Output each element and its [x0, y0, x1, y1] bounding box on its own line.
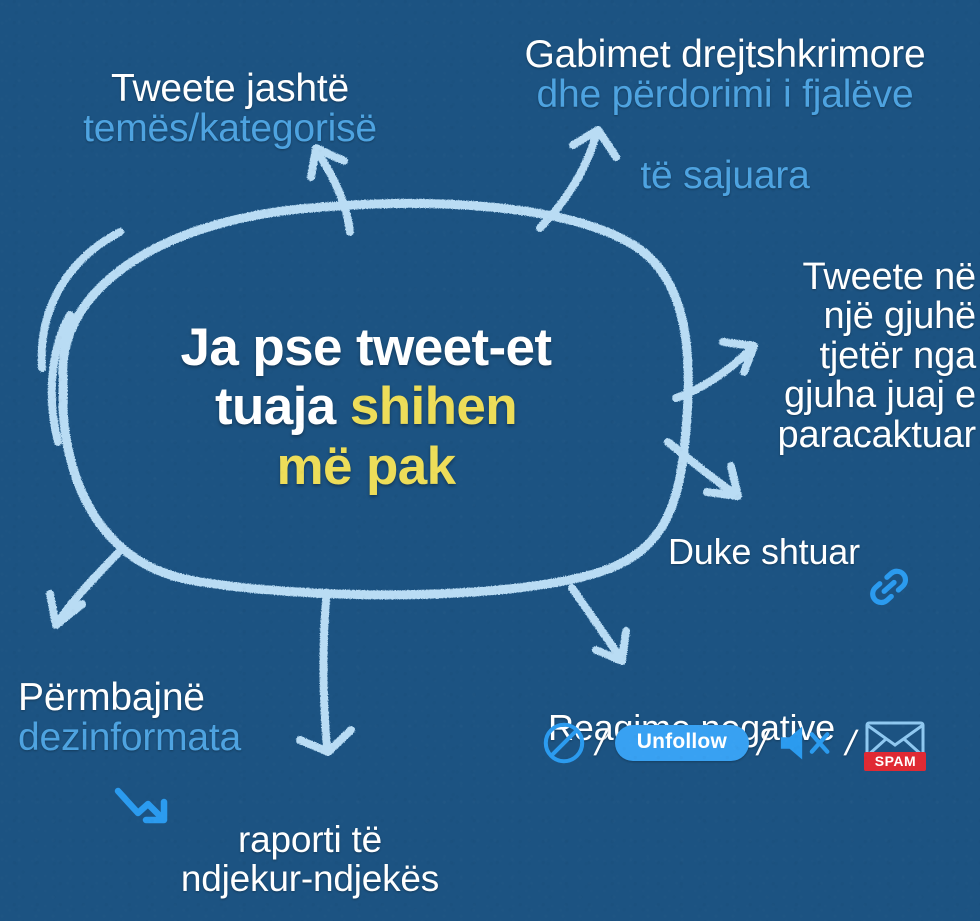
branch-spelling: Gabimet drejtshkrimore dhe përdorimi i f…: [472, 0, 978, 237]
separator-slash-2: /: [754, 726, 771, 761]
branch-links: Duke shtuar: [668, 531, 914, 573]
branch-offtopic-subtitle: temës/kategorisë: [34, 109, 426, 150]
infographic-canvas: Ja pse tweet-et tuaja shihen më pak Twee…: [0, 0, 980, 921]
mute-icon[interactable]: [777, 721, 837, 765]
center-line-1: Ja pse tweet-et: [96, 318, 636, 377]
spam-envelope-icon[interactable]: SPAM: [864, 718, 926, 768]
branch-misinfo-subtitle: dezinformata: [18, 718, 348, 759]
branch-language: Tweete në një gjuhë tjetër nga gjuha jua…: [736, 218, 976, 455]
branch-spelling-subtitle-line2: të sajuara: [472, 156, 978, 197]
branch-misinfo-title: Përmbajnë: [18, 676, 205, 719]
spam-badge: SPAM: [864, 752, 926, 771]
center-line-3: më pak: [96, 437, 636, 496]
branch-spelling-subtitle-line1: dhe përdorimi i fjalëve: [472, 75, 978, 116]
separator-slash-1: /: [592, 726, 609, 761]
center-line-2-yellow: shihen: [350, 377, 517, 436]
branch-misinfo: Përmbajnë dezinformata: [18, 637, 348, 799]
center-line-3-yellow: më pak: [276, 437, 455, 496]
branch-offtopic-title: Tweete jashtë: [111, 67, 349, 110]
branch-offtopic: Tweete jashtë temës/kategorisë: [34, 28, 426, 190]
branch-spelling-title: Gabimet drejtshkrimore: [525, 33, 926, 76]
branch-links-text: Duke shtuar: [668, 533, 860, 570]
branch-negative-icons: / Unfollow / / SPAM: [541, 718, 926, 768]
chain-link-icon: [868, 531, 914, 573]
separator-slash-3: /: [842, 726, 859, 761]
center-line-1-text: Ja pse tweet-et: [181, 318, 552, 377]
center-line-2-white: tuaja: [215, 377, 350, 436]
block-icon[interactable]: [541, 720, 587, 766]
branch-ratio: raporti të ndjekur-ndjekës: [140, 783, 480, 898]
center-headline: Ja pse tweet-et tuaja shihen më pak: [96, 318, 636, 496]
branch-language-text: Tweete në një gjuhë tjetër nga gjuha jua…: [778, 256, 976, 456]
unfollow-pill[interactable]: Unfollow: [615, 725, 749, 761]
center-line-2: tuaja shihen: [96, 377, 636, 436]
branch-ratio-text: raporti të ndjekur-ndjekës: [181, 819, 439, 898]
